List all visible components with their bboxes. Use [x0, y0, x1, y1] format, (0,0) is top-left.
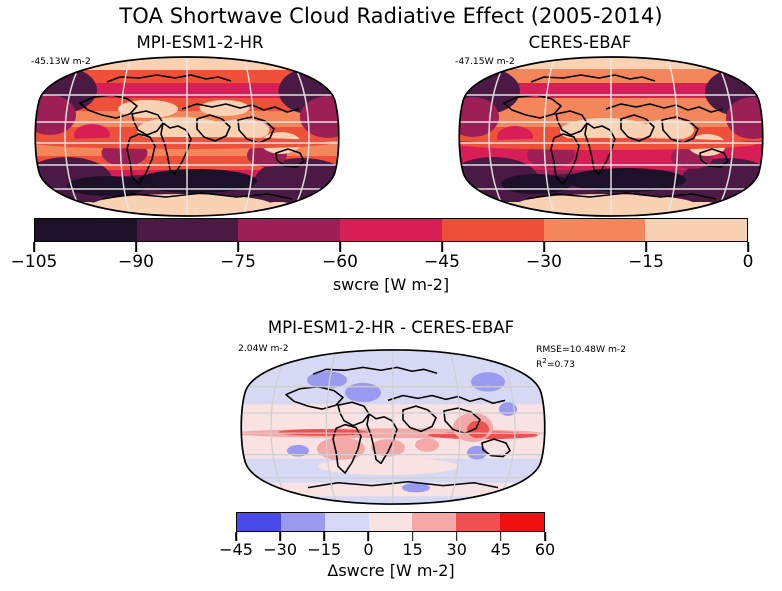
tick-label-45: 45: [491, 540, 511, 559]
colorbar-band-2: [238, 219, 340, 241]
tick-label-15: 15: [402, 540, 422, 559]
tick-label--60: −60: [322, 252, 358, 272]
tick--30: [543, 242, 545, 252]
colorbar-band-5: [544, 219, 646, 241]
figure-canvas: TOA Shortwave Cloud Radiative Effect (20…: [0, 0, 782, 591]
tick-label--45: −45: [424, 252, 460, 272]
map-difference: [238, 348, 548, 506]
colorbar-swcre-bands: [34, 218, 748, 242]
colorbar-swcre: [34, 218, 748, 242]
tick-label--90: −90: [118, 252, 154, 272]
colorbar-band-6: [500, 513, 544, 531]
map-ceres-ebaf: [456, 55, 766, 218]
tick--105: [33, 242, 35, 252]
colorbar-dswcre-ticklabels: −45−30−15015304560: [236, 540, 545, 562]
colorbar-band-4: [442, 219, 544, 241]
map-mpi-esm1-2-hr: [32, 55, 342, 218]
r2-value: =0.73: [547, 359, 575, 370]
panel-title-right: CERES-EBAF: [440, 33, 720, 52]
colorbar-dswcre: [236, 512, 545, 532]
colorbar-dswcre-label: Δswcre [W m-2]: [0, 561, 782, 580]
panel-title-left: MPI-ESM1-2-HR: [60, 33, 340, 52]
colorbar-swcre-ticks: [34, 242, 748, 252]
tick-label--15: −15: [628, 252, 664, 272]
colorbar-band-3: [340, 219, 442, 241]
colorbar-band-0: [35, 219, 137, 241]
panel-title-diff: MPI-ESM1-2-HR - CERES-EBAF: [236, 318, 546, 337]
tick-label--105: −105: [11, 252, 58, 272]
tick-label-60: 60: [535, 540, 555, 559]
colorbar-band-1: [137, 219, 239, 241]
colorbar-band-6: [645, 219, 747, 241]
colorbar-swcre-label: swcre [W m-2]: [0, 275, 782, 294]
tick--15: [645, 242, 647, 252]
tick-label--30: −30: [263, 540, 297, 559]
tick-label-30: 30: [447, 540, 467, 559]
colorbar-band-3: [369, 513, 413, 531]
tick-label-0: 0: [363, 540, 373, 559]
figure-suptitle: TOA Shortwave Cloud Radiative Effect (20…: [0, 4, 782, 28]
rmse-annotation: RMSE=10.48W m-2: [536, 344, 626, 355]
colorbar-dswcre-bands: [236, 512, 545, 532]
tick-label--45: −45: [219, 540, 253, 559]
tick-label-0: 0: [743, 252, 754, 272]
tick--45: [441, 242, 443, 252]
tick-label--75: −75: [220, 252, 256, 272]
colorbar-band-1: [281, 513, 325, 531]
colorbar-band-4: [412, 513, 456, 531]
tick-label--15: −15: [307, 540, 341, 559]
colorbar-band-5: [456, 513, 500, 531]
colorbar-band-0: [237, 513, 281, 531]
colorbar-swcre-ticklabels: −105−90−75−60−45−30−150: [34, 252, 748, 274]
tick--75: [237, 242, 239, 252]
tick--90: [135, 242, 137, 252]
tick-0: [747, 242, 749, 252]
tick-label--30: −30: [526, 252, 562, 272]
colorbar-band-2: [325, 513, 369, 531]
tick--60: [339, 242, 341, 252]
